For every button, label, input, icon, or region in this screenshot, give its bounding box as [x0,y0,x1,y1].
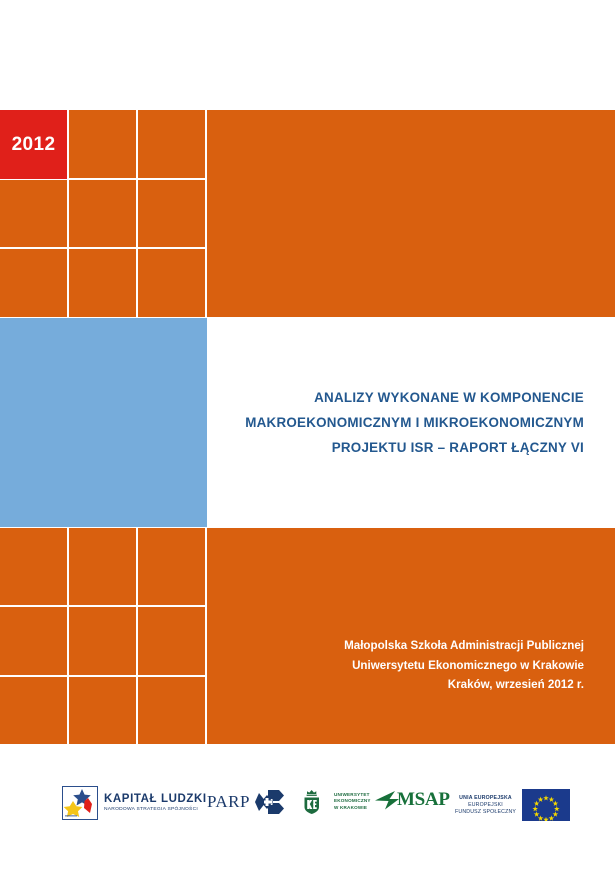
logo-msap: MSAP [375,790,450,810]
logo-parp-main: PARP [207,793,250,811]
affiliation-block: Małopolska Szkoła Administracji Publiczn… [254,636,584,695]
affiliation-line-2: Uniwersytetu Ekonomicznego w Krakowie [254,656,584,676]
title-band: ANALIZY WYKONANE W KOMPONENCIE MAKROEKON… [207,318,615,527]
year-badge: 2012 [0,110,67,179]
logo-kapital-ludzki-sub: NARODOWA STRATEGIA SPÓJNOŚCI [104,807,207,813]
page-title-line-3: PROJEKTU ISR – RAPORT ŁĄCZNY VI [332,435,584,460]
diamond-arrows-icon [255,789,285,815]
logo-eu-sub-1: EUROPEJSKI [455,802,516,809]
logo-uniwersytet-ekonomiczny: UNIWERSYTET EKONOMICZNY W KRAKOWIE [303,788,371,815]
top-orange-block [0,110,615,317]
logo-eu-sub-2: FUNDUSZ SPOŁECZNY [455,809,516,816]
affiliation-line-3: Kraków, wrzesień 2012 r. [254,675,584,695]
grid-vline [67,110,69,317]
crowned-shield-icon [303,788,329,815]
logo-msap-main: MSAP [397,790,450,810]
grid-vline [205,110,207,317]
grid-vline [136,110,138,317]
logo-unia-europejska: UNIA EUROPEJSKA EUROPEJSKI FUNDUSZ SPOŁE… [455,789,570,821]
document-cover: 2012 ANALIZY WYKONANE W KOMPONENCIE MAKR… [0,0,615,872]
grid-hline [0,247,205,249]
grid-vline [67,528,69,744]
blue-accent-band [0,318,207,527]
page-title-line-2: MAKROEKONOMICZNYM I MIKROEKONOMICZNYM [245,410,584,435]
grid-hline [0,605,205,607]
eu-flag-icon [522,789,570,821]
logo-kapital-ludzki-main: KAPITAŁ LUDZKI [104,793,207,805]
three-stars-icon [62,786,98,820]
affiliation-line-1: Małopolska Szkoła Administracji Publiczn… [254,636,584,656]
logo-kapital-ludzki: KAPITAŁ LUDZKI NARODOWA STRATEGIA SPÓJNO… [62,786,207,820]
grid-vline [136,528,138,744]
page-title-line-1: ANALIZY WYKONANE W KOMPONENCIE [314,385,584,410]
logo-parp: PARP [207,789,285,815]
year-badge-label: 2012 [0,110,67,179]
grid-vline [205,528,207,744]
grid-hline [0,675,205,677]
logo-ue-line-3: W KRAKOWIE [334,805,371,811]
logo-eu-main: UNIA EUROPEJSKA [455,795,516,802]
